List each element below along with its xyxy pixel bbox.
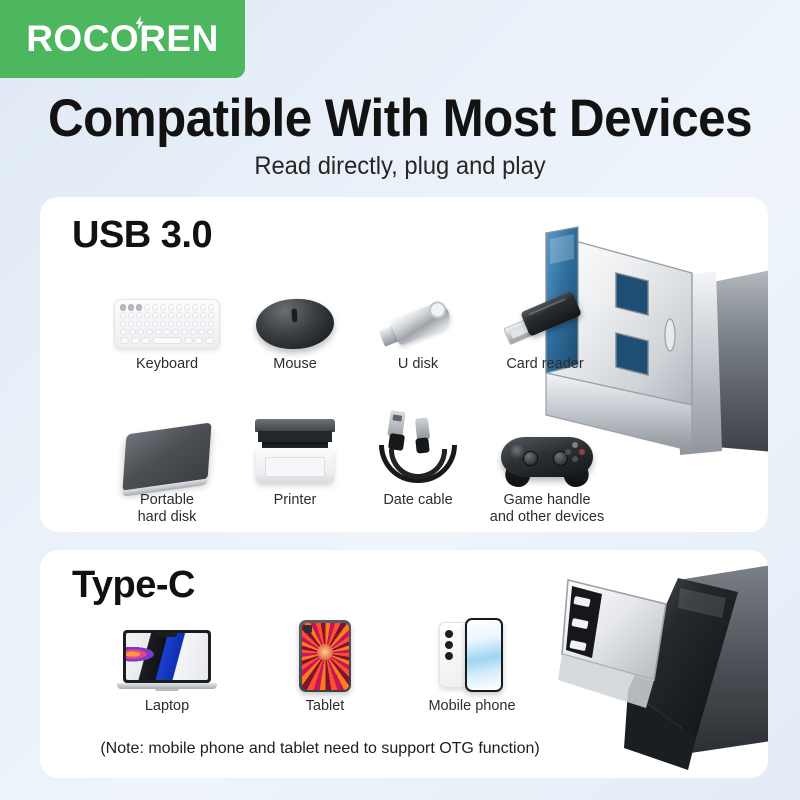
lightning-bolt-icon: [134, 16, 145, 30]
device-label: Card reader: [480, 356, 610, 373]
brand-logo: ROCOREN: [26, 18, 219, 60]
device-label: Laptop: [102, 698, 232, 715]
page-title: Compatible With Most Devices: [28, 88, 772, 149]
otg-note: (Note: mobile phone and tablet need to s…: [40, 740, 600, 758]
device-game-handle: Game handle and other devices: [472, 393, 622, 526]
device-mobile-phone: Mobile phone: [402, 612, 542, 715]
usb-section-title: USB 3.0: [72, 214, 212, 257]
mouse-icon: [230, 257, 360, 349]
keyboard-icon: [102, 257, 232, 349]
device-label: Portable hard disk: [102, 492, 232, 526]
usb-section-card: USB 3.0: [40, 197, 768, 532]
device-printer: Printer: [230, 393, 360, 509]
device-label: Tablet: [260, 698, 390, 715]
typec-section-title: Type-C: [72, 564, 195, 607]
device-label: Date cable: [353, 492, 483, 509]
usb-flash-drive-icon: [353, 257, 483, 349]
data-cable-icon: [353, 393, 483, 485]
portable-hard-disk-icon: [102, 393, 232, 485]
device-mouse: Mouse: [230, 257, 360, 373]
device-laptop: Laptop: [102, 612, 232, 715]
page-subtitle: Read directly, plug and play: [20, 152, 780, 181]
gamepad-icon: [472, 393, 622, 485]
printer-icon: [230, 393, 360, 485]
smartphone-icon: [402, 612, 542, 692]
device-label: U disk: [353, 356, 483, 373]
device-keyboard: Keyboard: [102, 257, 232, 373]
device-data-cable: Date cable: [353, 393, 483, 509]
device-label: Mobile phone: [402, 698, 542, 715]
device-u-disk: U disk: [353, 257, 483, 373]
brand-logo-text: ROCOREN: [26, 18, 219, 59]
device-label: Keyboard: [102, 356, 232, 373]
device-label: Mouse: [230, 356, 360, 373]
device-tablet: Tablet: [260, 612, 390, 715]
device-label: Game handle and other devices: [472, 492, 622, 526]
device-label: Printer: [230, 492, 360, 509]
typec-section-card: Type-C: [40, 550, 768, 778]
brand-logo-badge: ROCOREN: [0, 0, 245, 78]
tablet-icon: [260, 612, 390, 692]
device-portable-hard-disk: Portable hard disk: [102, 393, 232, 526]
device-card-reader: Card reader: [480, 257, 610, 373]
card-reader-icon: [480, 257, 610, 349]
laptop-icon: [102, 612, 232, 692]
